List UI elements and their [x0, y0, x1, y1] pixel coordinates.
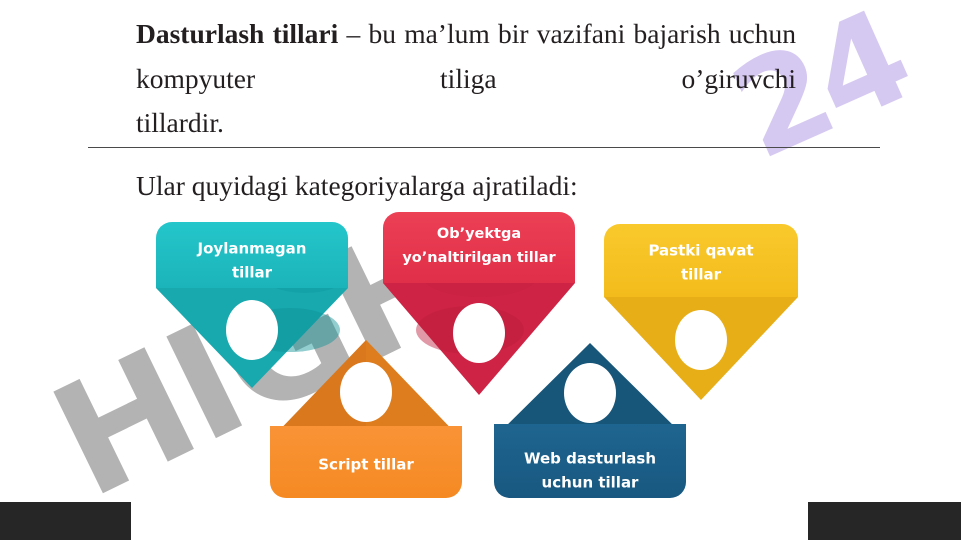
definition-last-line: tillardir.: [136, 101, 796, 146]
node-label-web-line2: uchun tillar: [542, 474, 640, 492]
node-label-script-line1: Script tillar: [318, 456, 414, 474]
node-label-web-line1: Web dasturlash: [524, 450, 656, 468]
paragraph-intro: Ular quyidagi kategoriyalarga ajratiladi…: [136, 165, 578, 206]
node-body-red: [383, 212, 575, 283]
node-label-obyektga-line1: Ob’yektga: [437, 226, 521, 242]
diagram-node-obyektga[interactable]: Ob’yektga yo’naltirilgan tillar: [383, 212, 575, 395]
node-label-pastki-line1: Pastki qavat: [648, 242, 753, 260]
node-hole-red: [453, 303, 505, 363]
node-hole-yellow: [675, 310, 727, 370]
node-label-pastki-line2: tillar: [681, 266, 722, 284]
bottom-bar-white-gap: [131, 502, 808, 540]
node-body-yellow: [604, 224, 798, 297]
node-hole-orange: [340, 362, 392, 422]
diagram-node-joylanmagan[interactable]: Joylanmagan tillar: [156, 222, 348, 388]
node-hole-teal: [226, 300, 278, 360]
definition-term: Dasturlash tillari: [136, 18, 338, 49]
node-label-joylanmagan-line1: Joylanmagan: [197, 240, 307, 258]
diagram-node-web-dasturlash[interactable]: Web dasturlash uchun tillar: [494, 343, 686, 498]
body-text-block: Dasturlash tillari – bu ma’lum bir vazif…: [136, 12, 796, 146]
node-hole-blue: [564, 363, 616, 423]
node-label-obyektga-line2: yo’naltirilgan tillar: [402, 250, 556, 266]
paragraph-definition: Dasturlash tillari – bu ma’lum bir vazif…: [136, 12, 796, 146]
node-label-joylanmagan-line2: tillar: [232, 264, 273, 282]
slide-canvas: 24 HIGH Dasturlash tillari – bu ma’lum b…: [0, 0, 961, 540]
diagram-node-pastki-qavat[interactable]: Pastki qavat tillar: [604, 224, 798, 400]
horizontal-divider: [88, 147, 880, 148]
diagram-node-script[interactable]: Script tillar: [270, 340, 462, 498]
